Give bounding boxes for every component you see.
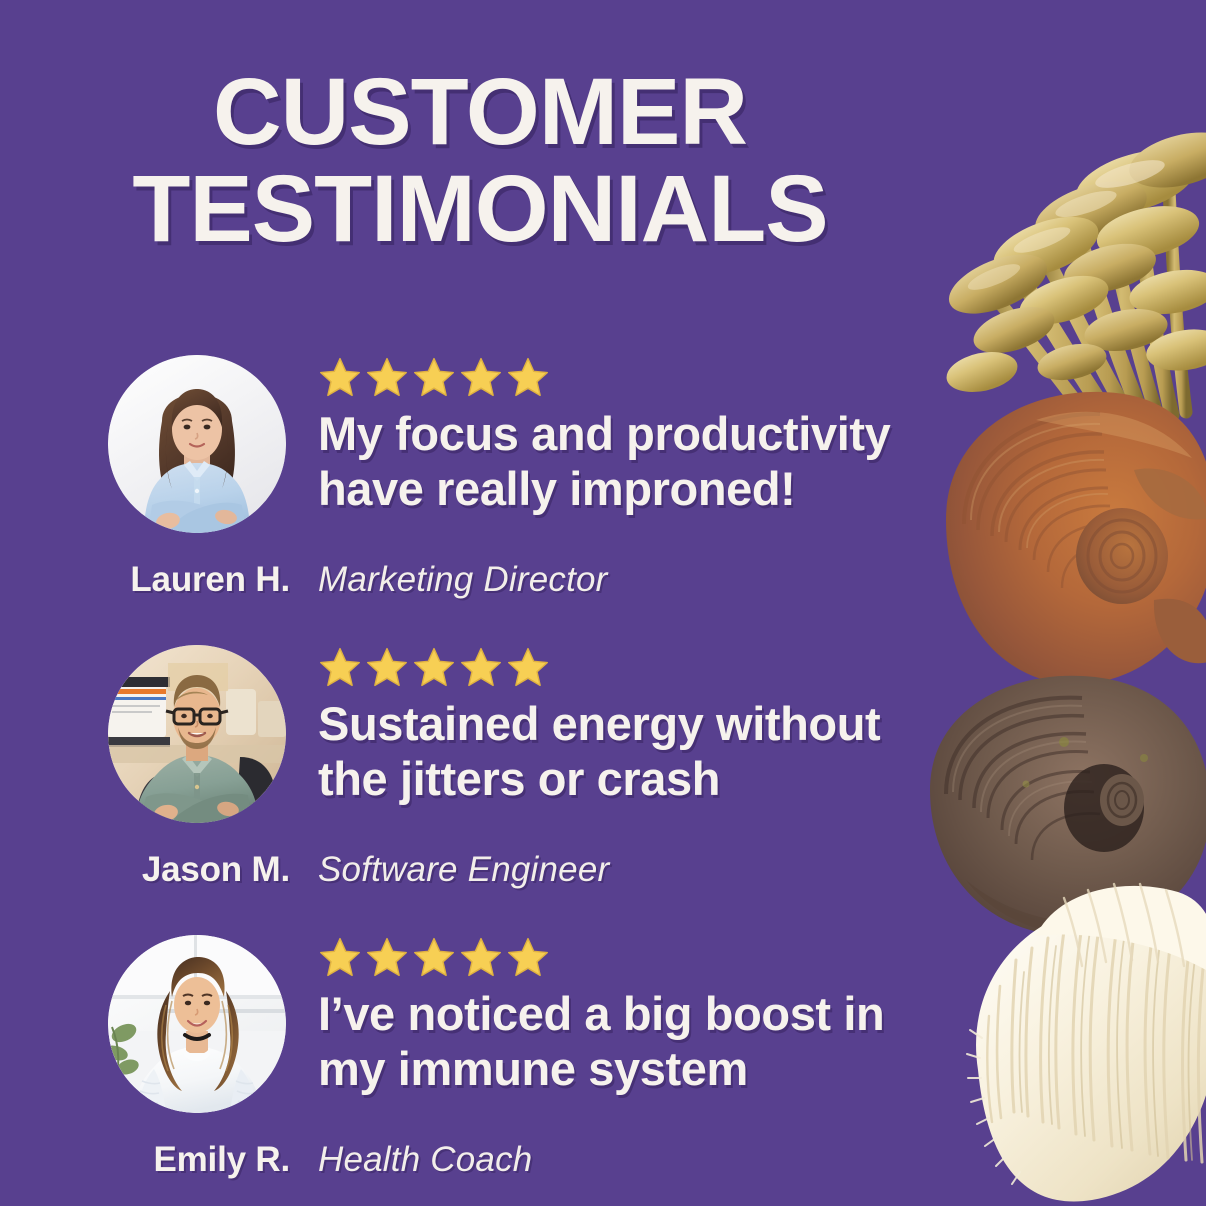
star-icon — [506, 355, 550, 399]
star-icon — [506, 935, 550, 979]
star-icon — [365, 355, 409, 399]
star-icon — [365, 935, 409, 979]
star-rating — [318, 645, 988, 689]
avatar — [108, 935, 286, 1113]
star-rating — [318, 935, 988, 979]
star-icon — [365, 645, 409, 689]
star-icon — [412, 645, 456, 689]
testimonial-list: My focus and productivity have really im… — [0, 355, 1000, 1206]
testimonial-page: CUSTOMER TESTIMONIALS — [0, 0, 1206, 1206]
testimonial-content: I’ve noticed a big boost in my immune sy… — [318, 935, 988, 1097]
avatar — [108, 355, 286, 533]
star-icon — [459, 935, 503, 979]
reviewer-role: Software Engineer — [318, 850, 609, 890]
star-icon — [318, 645, 362, 689]
quote-line: have really improned! — [318, 462, 988, 517]
page-title-line-2: TESTIMONIALS — [0, 163, 960, 256]
star-rating — [318, 355, 988, 399]
quote-line: My focus and productivity — [318, 407, 988, 462]
star-icon — [459, 355, 503, 399]
reviewer-name: Emily R. — [0, 1140, 290, 1180]
testimonial-quote: I’ve noticed a big boost in my immune sy… — [318, 987, 988, 1097]
star-icon — [412, 355, 456, 399]
testimonial-card: Sustained energy without the jitters or … — [0, 645, 1000, 935]
testimonial-content: My focus and productivity have really im… — [318, 355, 988, 517]
quote-line: my immune system — [318, 1042, 988, 1097]
testimonial-quote: Sustained energy without the jitters or … — [318, 697, 988, 807]
quote-line: the jitters or crash — [318, 752, 988, 807]
page-title-line-1: CUSTOMER — [0, 66, 960, 159]
star-icon — [412, 935, 456, 979]
reviewer-role: Marketing Director — [318, 560, 608, 600]
star-icon — [318, 355, 362, 399]
quote-line: Sustained energy without — [318, 697, 988, 752]
star-icon — [318, 935, 362, 979]
avatar — [108, 645, 286, 823]
star-icon — [506, 645, 550, 689]
reviewer-name: Lauren H. — [0, 560, 290, 600]
testimonial-quote: My focus and productivity have really im… — [318, 407, 988, 517]
testimonial-card: I’ve noticed a big boost in my immune sy… — [0, 935, 1000, 1206]
testimonial-content: Sustained energy without the jitters or … — [318, 645, 988, 807]
star-icon — [459, 645, 503, 689]
reviewer-role: Health Coach — [318, 1140, 532, 1180]
quote-line: I’ve noticed a big boost in — [318, 987, 988, 1042]
reviewer-name: Jason M. — [0, 850, 290, 890]
testimonial-card: My focus and productivity have really im… — [0, 355, 1000, 645]
page-title: CUSTOMER TESTIMONIALS — [0, 66, 960, 256]
